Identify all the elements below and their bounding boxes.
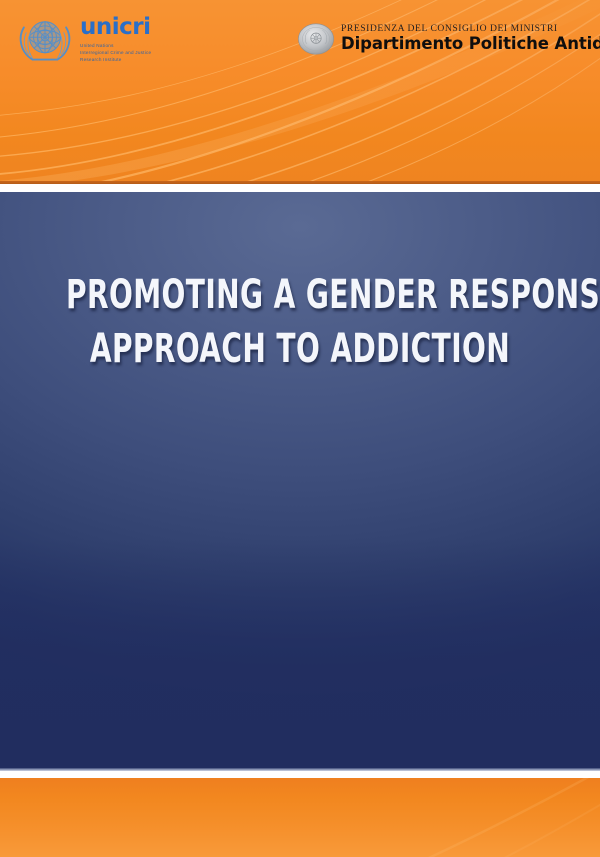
unicri-logo: unicri United Nations Interregional Crim… [14, 10, 194, 72]
unicri-subtitle-line-3: Research Institute [80, 56, 151, 63]
un-emblem [14, 10, 76, 72]
page-title-line-1: PROMOTING A GENDER RESPONSIVE [66, 268, 534, 322]
title-panel: PROMOTING A GENDER RESPONSIVE APPROACH T… [0, 192, 600, 768]
page-title: PROMOTING A GENDER RESPONSIVE APPROACH T… [66, 268, 534, 376]
dpa-text-block: PRESIDENZA DEL CONSIGLIO DEI MINISTRI Di… [341, 24, 600, 55]
unicri-subtitle-line-1: United Nations [80, 42, 151, 49]
header-band: unicri United Nations Interregional Crim… [0, 0, 600, 182]
italian-republic-emblem [296, 19, 336, 59]
cover-page: unicri United Nations Interregional Crim… [0, 0, 600, 857]
footer-swoosh-decoration [0, 778, 600, 857]
header-white-gap [0, 184, 600, 192]
panel-gradient-fade [0, 538, 600, 768]
unicri-subtitle-line-2: Interregional Crime and Justice [80, 49, 151, 56]
page-title-line-2: APPROACH TO ADDICTION [66, 322, 534, 376]
footer-band [0, 778, 600, 857]
unicri-subtitle: United Nations Interregional Crime and J… [80, 42, 151, 63]
dpa-logo: PRESIDENZA DEL CONSIGLIO DEI MINISTRI Di… [296, 16, 586, 62]
footer-white-gap [0, 771, 600, 778]
unicri-wordmark: unicri [80, 16, 151, 39]
dpa-title-presidenza: PRESIDENZA DEL CONSIGLIO DEI MINISTRI [341, 24, 600, 35]
unicri-text-block: unicri United Nations Interregional Crim… [80, 16, 151, 63]
dpa-title-dipartimento: Dipartimento Politiche Antidroga [341, 35, 600, 54]
